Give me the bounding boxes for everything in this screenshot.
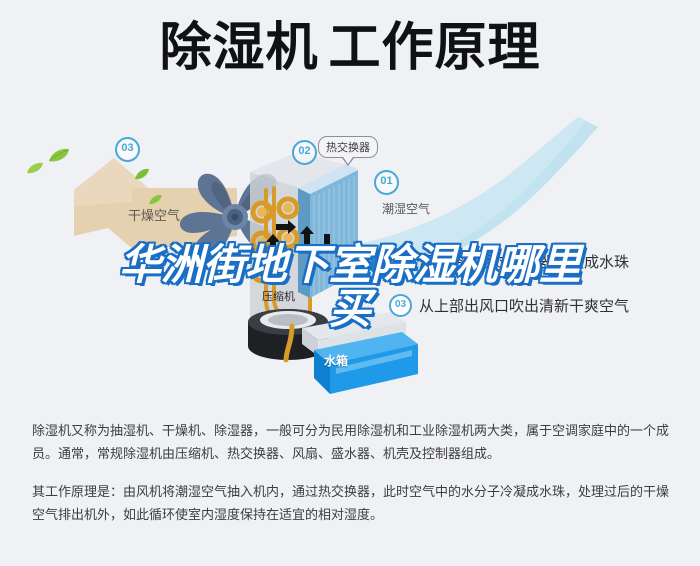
page-title-part2: 工作原理 xyxy=(329,18,541,78)
diagram-badge-03: 03 xyxy=(115,137,140,162)
label-compressor: 压缩机 xyxy=(262,288,295,304)
diagram-badge-01: 01 xyxy=(374,170,399,195)
leaf-icon xyxy=(48,148,70,164)
process-steps-list: 02 潮湿空气经过蒸发器冷凝成水珠 03 从上部出风口吹出清新干爽空气 xyxy=(389,250,689,338)
step-number: 03 xyxy=(389,294,412,317)
step-text: 潮湿空气经过蒸发器冷凝成水珠 xyxy=(419,251,629,272)
label-dry-air: 干燥空气 xyxy=(128,205,180,224)
infographic-page: 除湿机工作原理 xyxy=(0,0,700,566)
step-text: 从上部出风口吹出清新干爽空气 xyxy=(419,295,629,316)
list-item: 02 潮湿空气经过蒸发器冷凝成水珠 xyxy=(389,250,689,273)
leaf-icon xyxy=(134,168,150,181)
page-title: 除湿机工作原理 xyxy=(0,22,700,74)
description-text: 除湿机又称为抽湿机、干燥机、除湿器，一般可分为民用除湿机和工业除湿机两大类，属于… xyxy=(32,420,672,542)
leaf-icon xyxy=(26,162,44,175)
paragraph-1: 除湿机又称为抽湿机、干燥机、除湿器，一般可分为民用除湿机和工业除湿机两大类，属于… xyxy=(32,420,672,466)
diagram-badge-02: 02 xyxy=(292,140,317,165)
heat-exchanger-callout: 热交换器 xyxy=(318,136,378,158)
paragraph-2: 其工作原理是：由风机将潮湿空气抽入机内，通过热交换器，此时空气中的水分子冷凝成水… xyxy=(32,481,672,527)
step-number: 02 xyxy=(389,250,412,273)
list-item: 03 从上部出风口吹出清新干爽空气 xyxy=(389,294,689,317)
label-humid-air: 潮湿空气 xyxy=(382,200,430,217)
label-water-tank: 水箱 xyxy=(324,352,348,369)
page-title-part1: 除湿机 xyxy=(159,18,318,78)
